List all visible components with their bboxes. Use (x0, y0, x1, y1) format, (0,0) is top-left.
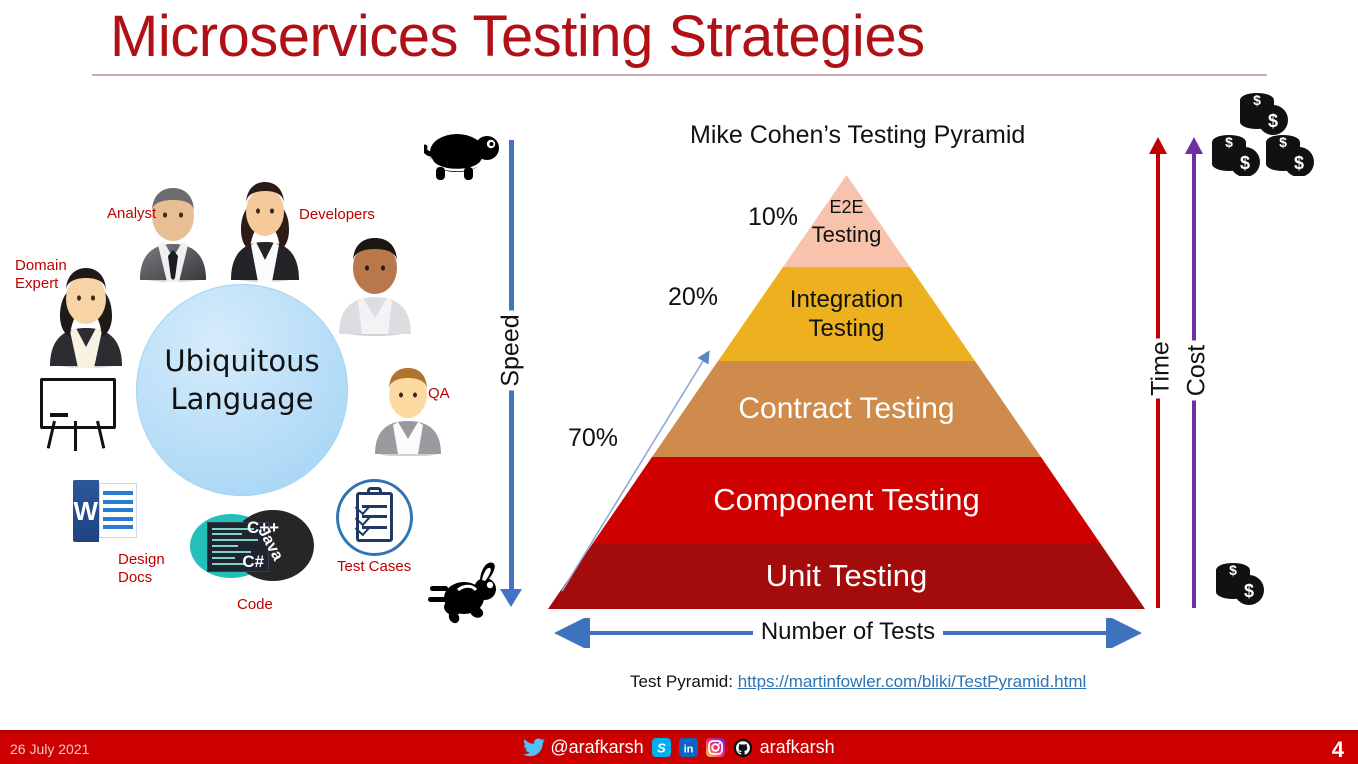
title-divider (92, 74, 1267, 76)
pyramid-layer-contract-label: Contract Testing (548, 361, 1145, 457)
label-code: Code (237, 596, 273, 614)
label-domain-expert: Domain Expert (15, 257, 67, 293)
svg-text:$: $ (1279, 134, 1287, 150)
twitter-handle[interactable]: @arafkarsh (550, 737, 643, 758)
pyramid-layer-component-label: Component Testing (548, 457, 1145, 543)
pyramid-integration-line1: Integration (790, 285, 903, 314)
test-pyramid-link[interactable]: https://martinfowler.com/bliki/TestPyram… (738, 672, 1087, 691)
twitter-icon[interactable] (523, 738, 542, 757)
number-of-tests-axis: Number of Tests (548, 618, 1148, 648)
github-icon[interactable] (733, 738, 752, 757)
ubiquitous-language-circle: Ubiquitous Language (136, 284, 348, 496)
label-design-docs: Design Docs (118, 551, 165, 587)
pyramid-layer-unit: Unit Testing (548, 543, 1145, 609)
clipboard-checklist-icon (336, 479, 413, 556)
pyramid-integration-line2: Testing (790, 314, 903, 343)
pyramid-percent-10: 10% (748, 203, 798, 232)
instagram-icon[interactable] (706, 738, 725, 757)
svg-text:$: $ (1294, 153, 1304, 173)
label-domain-expert-line1: Domain (15, 257, 67, 275)
source-prefix: Test Pyramid: (630, 672, 738, 691)
pyramid-percent-20: 20% (668, 283, 718, 312)
pyramid-layer-component: Component Testing (548, 457, 1145, 543)
pyramid-percent-70: 70% (568, 424, 618, 453)
pyramid-layer-e2e: E2E Testing (548, 175, 1145, 267)
github-handle[interactable]: arafkarsh (760, 737, 835, 758)
rabbit-icon (428, 560, 502, 630)
svg-text:$: $ (1244, 581, 1254, 601)
pyramid-e2e-line2: Testing (812, 221, 882, 248)
coin-stacks-many-icon: $ $ $ $ $ $ (1212, 92, 1316, 180)
label-qa: QA (428, 385, 450, 403)
linkedin-icon[interactable]: in (679, 738, 698, 757)
skype-icon[interactable]: S (652, 738, 671, 757)
source-line: Test Pyramid: https://martinfowler.com/b… (630, 672, 1086, 692)
word-document-icon: W (73, 480, 137, 542)
svg-text:S: S (657, 741, 666, 756)
page-number: 4 (1332, 737, 1344, 763)
footer-bar: 26 July 2021 @arafkarsh S in (0, 733, 1358, 764)
person-developer-icon (226, 170, 304, 282)
page-title: Microservices Testing Strategies (110, 2, 925, 72)
slide-root: Microservices Testing Strategies Analyst (0, 0, 1358, 764)
pyramid-layer-contract: Contract Testing (548, 361, 1145, 457)
coin-stack-single-icon: $ $ (1216, 562, 1266, 610)
label-analyst: Analyst (107, 205, 156, 223)
person-qa-icon (370, 360, 446, 456)
code-lang-csharp: C# (242, 552, 264, 572)
label-test-cases: Test Cases (337, 558, 411, 576)
number-of-tests-label: Number of Tests (753, 618, 943, 646)
pyramid-layer-integration: Integration Testing (548, 267, 1145, 361)
code-icon: C++ Java C# (190, 508, 314, 584)
turtle-icon (424, 126, 502, 190)
pyramid-title: Mike Cohen’s Testing Pyramid (690, 121, 1025, 150)
svg-text:$: $ (1268, 111, 1278, 131)
person-analyst-icon (132, 176, 214, 282)
svg-text:$: $ (1229, 562, 1237, 578)
footer-social-group: @arafkarsh S in arafkarsh (0, 737, 1358, 758)
label-design-docs-line1: Design (118, 551, 165, 569)
pyramid-layer-unit-label: Unit Testing (548, 543, 1145, 609)
cost-axis-arrowhead (1185, 137, 1203, 154)
ubiquitous-language-text: Ubiquitous Language (136, 342, 348, 418)
cost-axis-label: Cost (1179, 341, 1216, 401)
pyramid-e2e-line1: E2E (812, 194, 882, 221)
pyramid-layer-e2e-label: E2E Testing (548, 175, 1145, 267)
svg-text:in: in (683, 744, 693, 756)
ubiquitous-line1: Ubiquitous (136, 342, 348, 380)
testing-pyramid: E2E Testing Integration Testing Contract (548, 175, 1145, 609)
ubiquitous-line2: Language (136, 380, 348, 418)
label-developers: Developers (299, 206, 375, 224)
whiteboard-icon (40, 378, 110, 448)
label-design-docs-line2: Docs (118, 569, 165, 587)
time-axis-label: Time (1143, 339, 1180, 399)
speed-axis-label: Speed (491, 311, 532, 391)
svg-text:$: $ (1253, 92, 1261, 108)
label-domain-expert-line2: Expert (15, 275, 67, 293)
speed-axis-arrowhead (500, 589, 522, 607)
pyramid-layer-integration-label: Integration Testing (548, 267, 1145, 361)
person-developer-2-icon (333, 228, 417, 336)
svg-text:$: $ (1225, 134, 1233, 150)
time-axis-arrowhead (1149, 137, 1167, 154)
svg-text:$: $ (1240, 153, 1250, 173)
